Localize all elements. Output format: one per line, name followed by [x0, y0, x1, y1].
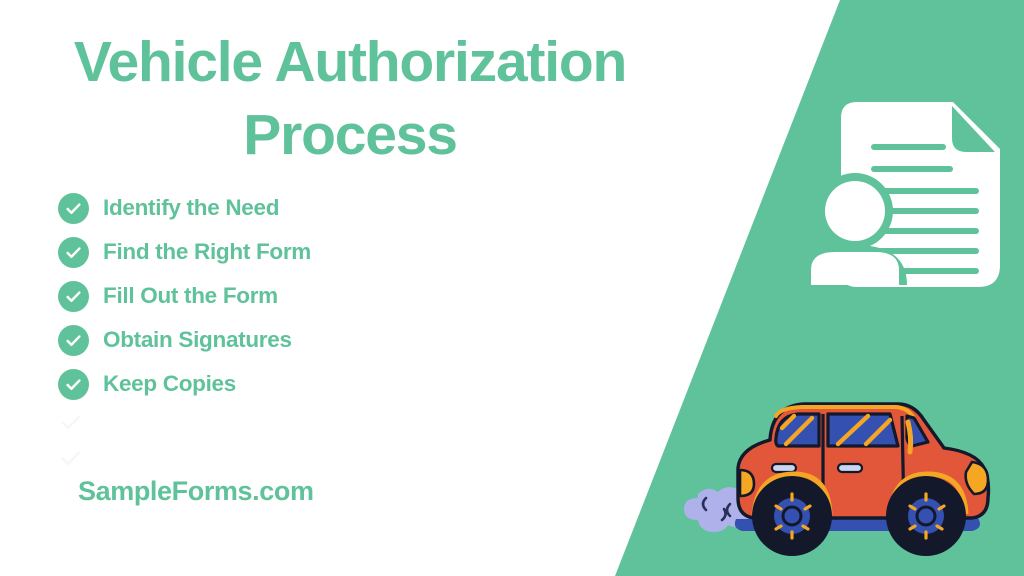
- check-circle-icon: [58, 325, 89, 356]
- list-item: Obtain Signatures: [58, 318, 488, 362]
- check-circle-icon: [58, 369, 89, 400]
- check-icon-faint: [58, 440, 98, 476]
- list-item: Identify the Need: [58, 186, 488, 230]
- list-item: Fill Out the Form: [58, 274, 488, 318]
- check-circle-icon: [58, 193, 89, 224]
- document-with-person-icon: [795, 80, 1010, 295]
- faint-checkmarks-group: [58, 404, 98, 476]
- page-title: Vehicle Authorization Process: [20, 26, 680, 172]
- poster-canvas: Vehicle Authorization Process Identify t…: [0, 0, 1024, 576]
- list-item: Find the Right Form: [58, 230, 488, 274]
- car-illustration: [676, 376, 1024, 576]
- list-item: Keep Copies: [58, 362, 488, 406]
- list-item-label: Keep Copies: [103, 371, 236, 397]
- list-item-label: Find the Right Form: [103, 239, 311, 265]
- left-content-column: Vehicle Authorization Process Identify t…: [0, 0, 700, 576]
- wheel-rear: [752, 476, 832, 556]
- check-circle-icon: [58, 281, 89, 312]
- checklist: Identify the Need Find the Right Form Fi…: [58, 186, 488, 406]
- page-title-line-1: Vehicle Authorization: [20, 26, 680, 99]
- list-item-label: Identify the Need: [103, 195, 279, 221]
- list-item-label: Fill Out the Form: [103, 283, 278, 309]
- check-circle-icon: [58, 237, 89, 268]
- brand-footer: SampleForms.com: [78, 476, 314, 507]
- list-item-label: Obtain Signatures: [103, 327, 292, 353]
- page-title-line-2: Process: [20, 99, 680, 172]
- check-icon-faint: [58, 404, 98, 440]
- wheel-front: [886, 476, 966, 556]
